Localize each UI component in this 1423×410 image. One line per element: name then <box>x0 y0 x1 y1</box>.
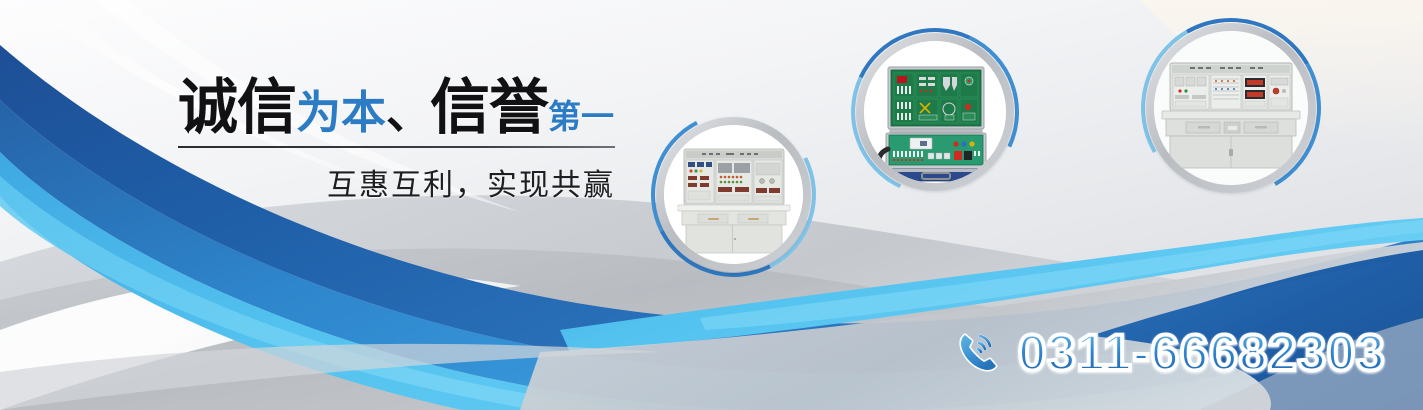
headline-divider <box>178 146 615 148</box>
headline-part-1: 诚信 <box>178 74 296 141</box>
product-circle-3[interactable] <box>1141 18 1321 198</box>
headline: 诚信为本、信誉第一 <box>178 78 614 138</box>
headline-separator: 、 <box>386 86 430 138</box>
phone-number[interactable]: 0311-66682303 <box>1018 327 1386 378</box>
subtitle: 互惠互利，实现共赢 <box>178 160 615 204</box>
product-circle-2-photo <box>864 41 1006 183</box>
headline-part-4: 信誉 <box>430 74 548 141</box>
headline-part-2: 为本 <box>296 87 386 138</box>
promotional-banner: 诚信为本、信誉第一 互惠互利，实现共赢 <box>0 0 1423 410</box>
product-circle-3-photo <box>1154 31 1308 185</box>
product-circle-1-photo <box>664 125 803 264</box>
phone-call-icon <box>952 326 1004 378</box>
product-circle-2[interactable] <box>851 28 1019 196</box>
contact-phone-block[interactable]: 0311-66682303 <box>952 326 1386 378</box>
headline-part-5: 第一 <box>548 98 614 135</box>
product-circle-1[interactable] <box>651 112 816 277</box>
